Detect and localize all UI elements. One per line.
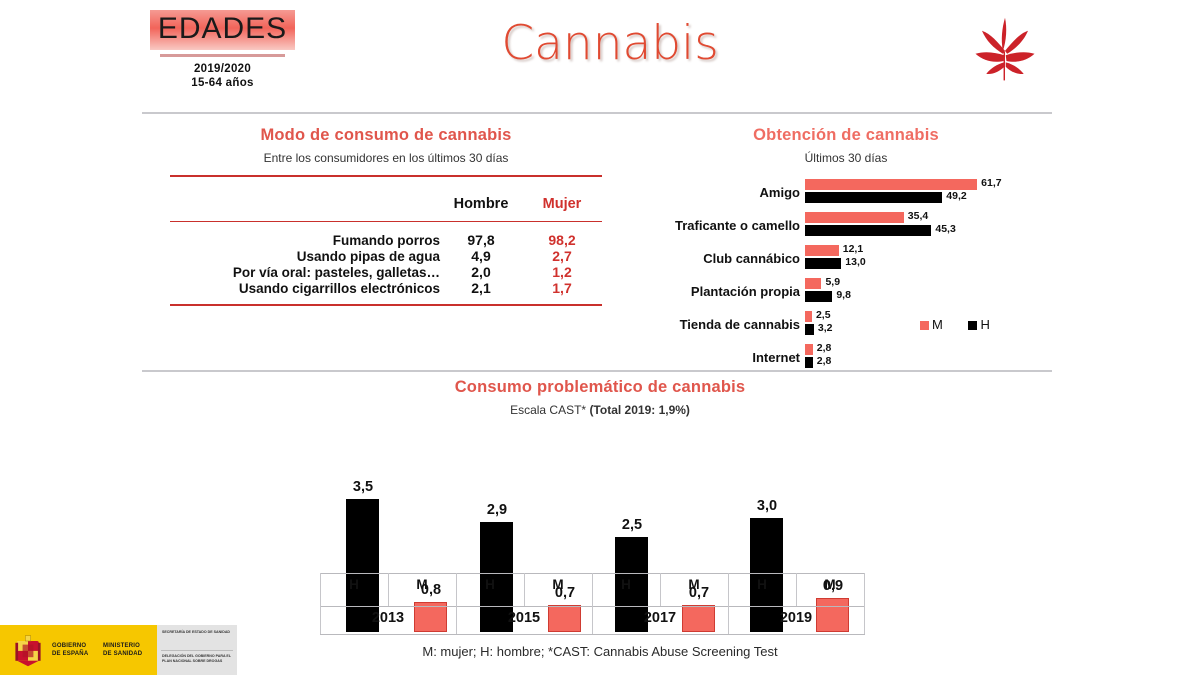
bar-value-label: 3,2 <box>818 322 833 334</box>
row-label-2: Por vía oral: pasteles, galletas… <box>170 264 440 280</box>
table-rule-top <box>170 175 602 177</box>
axis-label-h: H <box>728 577 796 592</box>
infographic-page: EDADES 2019/2020 15-64 años Cannabis Mod… <box>0 0 1200 675</box>
table-header-blank <box>170 187 440 221</box>
bar-m <box>805 278 821 289</box>
cannabis-leaf-icon <box>965 12 1045 84</box>
bottom-subtitle-bold: (Total 2019: 1,9%) <box>589 403 689 417</box>
bar-m <box>805 311 812 322</box>
bottom-panel-title: Consumo problemático de cannabis <box>140 378 1060 397</box>
table-header-hombre: Hombre <box>440 187 522 221</box>
cast-bar-value-label: 2,5 <box>602 517 662 533</box>
axis-label-h: H <box>592 577 660 592</box>
table-rule-bottom <box>170 304 602 306</box>
cast-bar-value-label: 2,9 <box>467 502 527 518</box>
gov-gray-panel: SECRETARÍA DE ESTADO DE SANIDAD DELEGACI… <box>157 625 237 675</box>
bar-value-label: 2,8 <box>817 342 832 354</box>
gov-panel-divider <box>161 650 233 651</box>
right-panel-subtitle: Últimos 30 días <box>640 151 1052 165</box>
legend-swatch-m-icon <box>920 321 929 330</box>
row-mujer-0: 98,2 <box>522 232 602 248</box>
bar-row: Traficante o camello35,445,3 <box>640 212 1052 240</box>
edades-logo-years: 2019/2020 <box>150 62 295 76</box>
edades-logo-rule <box>160 54 285 57</box>
legend-swatch-h-icon <box>968 321 977 330</box>
row-label-0: Fumando porros <box>170 232 440 248</box>
cast-bar-value-label: 3,5 <box>333 479 393 495</box>
bar-h <box>805 225 931 236</box>
table-header-row: Hombre Mujer <box>170 187 602 221</box>
row-hombre-2: 2,0 <box>440 264 522 280</box>
bar-h <box>805 357 813 368</box>
right-panel-title: Obtención de cannabis <box>640 126 1052 145</box>
axis-label-year: 2017 <box>592 610 728 626</box>
bar-m <box>805 344 813 355</box>
gov-text-ministerio: MINISTERIO DE SANIDAD <box>103 642 142 658</box>
gov-line2: DE ESPAÑA <box>52 650 88 658</box>
cast-bar-value-label: 3,0 <box>737 498 797 514</box>
gov-panel-top-text: SECRETARÍA DE ESTADO DE SANIDAD <box>162 630 234 635</box>
table-rule-header <box>170 221 602 223</box>
table-row: Usando cigarrillos electrónicos 2,1 1,7 <box>170 280 602 296</box>
obtencion-legend: M H <box>920 317 1012 332</box>
edades-logo-box: EDADES <box>150 10 295 50</box>
axis-label-m: M <box>524 577 592 592</box>
row-hombre-1: 4,9 <box>440 248 522 264</box>
gov-line4: DE SANIDAD <box>103 650 142 658</box>
gov-panel-bottom-text: DELEGACIÓN DEL GOBIERNO PARA EL PLAN NAC… <box>162 654 234 663</box>
bar-value-label: 45,3 <box>935 223 955 235</box>
bar-value-label: 9,8 <box>836 289 851 301</box>
bar-group <box>805 311 814 337</box>
edades-logo: EDADES 2019/2020 15-64 años <box>150 10 295 90</box>
bar-row: Amigo61,749,2 <box>640 179 1052 207</box>
bar-row: Plantación propia5,99,8 <box>640 278 1052 306</box>
table-row: Fumando porros 97,8 98,2 <box>170 232 602 248</box>
axis-label-year: 2013 <box>320 610 456 626</box>
bar-category-label: Tienda de cannabis <box>640 312 800 338</box>
bar-m <box>805 212 904 223</box>
bar-category-label: Traficante o camello <box>640 213 800 239</box>
bar-group <box>805 212 931 238</box>
left-panel-subtitle: Entre los consumidores en los últimos 30… <box>170 151 602 165</box>
axis-label-m: M <box>796 577 864 592</box>
divider-top <box>142 112 1052 114</box>
edades-logo-word: EDADES <box>156 12 289 46</box>
bar-m <box>805 179 977 190</box>
bar-group <box>805 245 841 271</box>
table-header-mujer: Mujer <box>522 187 602 221</box>
bar-row: Internet2,82,8 <box>640 344 1052 372</box>
bar-value-label: 2,8 <box>817 355 832 367</box>
bar-h <box>805 324 814 335</box>
edades-logo-ages: 15-64 años <box>150 76 295 90</box>
government-logo: GOBIERNO DE ESPAÑA MINISTERIO DE SANIDAD… <box>0 625 237 675</box>
panel-modo-consumo: Modo de consumo de cannabis Entre los co… <box>170 126 602 306</box>
row-mujer-2: 1,2 <box>522 264 602 280</box>
spain-coat-of-arms-icon <box>10 632 46 668</box>
bar-m <box>805 245 839 256</box>
gov-line1: GOBIERNO <box>52 642 88 650</box>
bar-row: Club cannábico12,113,0 <box>640 245 1052 273</box>
bar-value-label: 12,1 <box>843 243 863 255</box>
table-row: Por vía oral: pasteles, galletas… 2,0 1,… <box>170 264 602 280</box>
legend-item-h: H <box>968 317 989 332</box>
axis-label-h: H <box>320 577 388 592</box>
bar-category-label: Club cannábico <box>640 246 800 272</box>
row-hombre-0: 97,8 <box>440 232 522 248</box>
axis-label-h: H <box>456 577 524 592</box>
axis-label-m: M <box>660 577 728 592</box>
gov-line3: MINISTERIO <box>103 642 142 650</box>
panel-obtencion: Obtención de cannabis Últimos 30 días Am… <box>640 126 1052 379</box>
cast-axis: HMHMHMHM2013201520172019 <box>320 573 865 635</box>
consumption-mode-table: Hombre Mujer <box>170 187 602 221</box>
bar-value-label: 2,5 <box>816 309 831 321</box>
chart-footnote: M: mujer; H: hombre; *CAST: Cannabis Abu… <box>140 644 1060 659</box>
row-mujer-3: 1,7 <box>522 280 602 296</box>
bar-category-label: Internet <box>640 345 800 371</box>
bar-group <box>805 344 813 370</box>
bottom-subtitle-plain: Escala CAST* <box>510 403 589 417</box>
table-row: Usando pipas de agua 4,9 2,7 <box>170 248 602 264</box>
bottom-panel-subtitle: Escala CAST* (Total 2019: 1,9%) <box>140 403 1060 417</box>
legend-label-h: H <box>980 317 989 332</box>
consumption-mode-body: Fumando porros 97,8 98,2 Usando pipas de… <box>170 232 602 296</box>
bar-h <box>805 291 832 302</box>
legend-label-m: M <box>932 317 943 332</box>
axis-label-m: M <box>388 577 456 592</box>
axis-label-year: 2015 <box>456 610 592 626</box>
left-panel-title: Modo de consumo de cannabis <box>170 126 602 145</box>
obtencion-bar-chart: Amigo61,749,2Traficante o camello35,445,… <box>640 179 1052 379</box>
bar-category-label: Plantación propia <box>640 279 800 305</box>
bar-h <box>805 258 841 269</box>
bar-category-label: Amigo <box>640 180 800 206</box>
row-label-3: Usando cigarrillos electrónicos <box>170 280 440 296</box>
page-title: Cannabis <box>430 16 790 71</box>
row-mujer-1: 2,7 <box>522 248 602 264</box>
bar-value-label: 13,0 <box>845 256 865 268</box>
row-label-1: Usando pipas de agua <box>170 248 440 264</box>
axis-label-year: 2019 <box>728 610 864 626</box>
gov-text-gobierno: GOBIERNO DE ESPAÑA <box>52 642 88 658</box>
bar-h <box>805 192 942 203</box>
bar-value-label: 61,7 <box>981 177 1001 189</box>
legend-item-m: M <box>920 317 943 332</box>
row-hombre-3: 2,1 <box>440 280 522 296</box>
bar-group <box>805 278 832 304</box>
bar-group <box>805 179 977 205</box>
